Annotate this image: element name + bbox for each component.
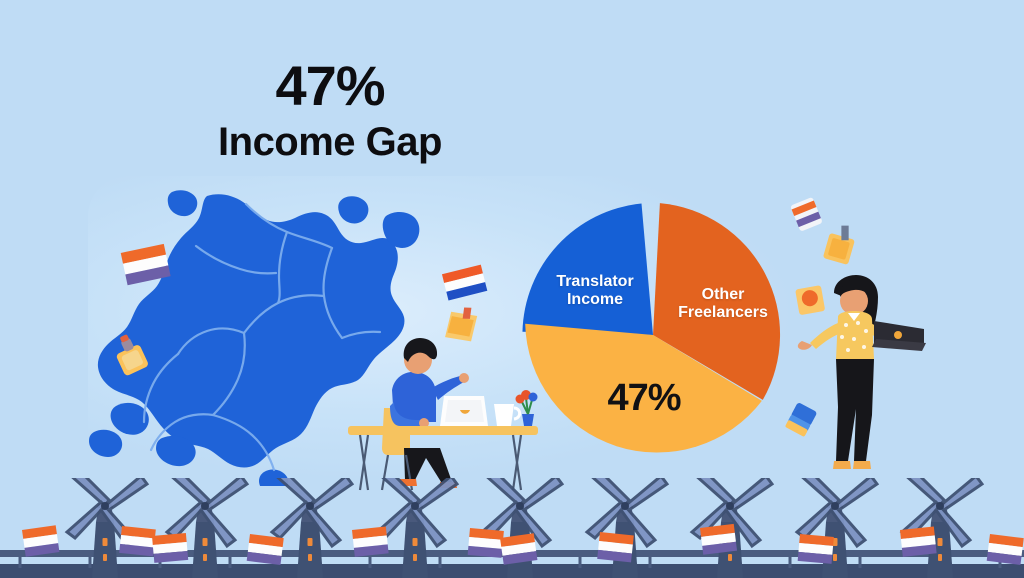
dutch-flag-icon <box>900 526 937 556</box>
windmill-icon <box>587 478 667 578</box>
dutch-flag-icon <box>468 528 504 558</box>
windmill-icon <box>797 478 877 578</box>
windmill-icon <box>272 478 352 578</box>
yellow-book-icon <box>818 222 862 268</box>
dutch-flag-icon <box>798 534 834 564</box>
windmill-icon <box>377 478 457 578</box>
dutch-flag-icon <box>22 525 59 556</box>
dutch-flag-icon <box>500 533 537 564</box>
pie-slice-translator-income <box>514 203 653 344</box>
dutch-flag-icon <box>700 524 737 555</box>
windmill-icon <box>167 478 247 578</box>
page-title: 47% Income Gap <box>170 58 490 164</box>
infographic-canvas: 47% Income Gap <box>0 0 1024 578</box>
dutch-flag-icon <box>119 526 156 556</box>
paint-tube-icon <box>108 332 156 382</box>
windmill-icon <box>482 478 562 578</box>
windmill-border-band <box>0 478 1024 578</box>
woman-with-laptop-illustration <box>790 275 930 480</box>
dutch-flag-icon <box>987 534 1024 565</box>
dutch-flag-icon <box>597 532 634 562</box>
headline-subtitle: Income Gap <box>170 120 490 164</box>
dutch-flag-icon <box>247 534 284 565</box>
windmill-icon <box>902 478 982 578</box>
dutch-flag-icon <box>152 533 188 563</box>
headline-percent: 47% <box>170 58 490 114</box>
pie-chart: Translator Income Other Freelancers 47% <box>519 201 787 469</box>
dutch-flag-icon <box>352 526 389 556</box>
dutch-flag-icon <box>118 240 174 292</box>
